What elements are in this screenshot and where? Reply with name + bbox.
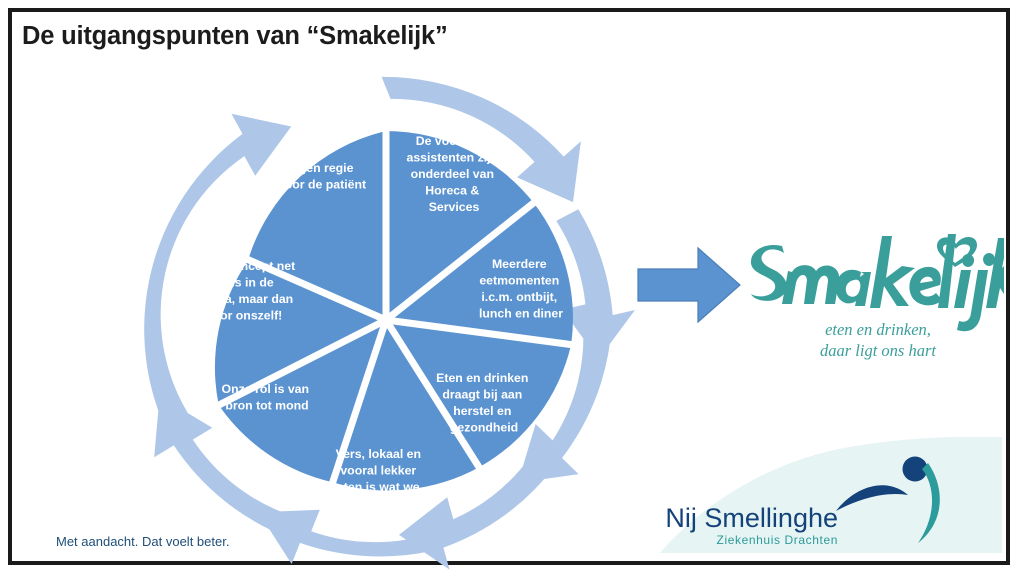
footer-tagline: Met aandacht. Dat voelt beter. [56, 534, 229, 549]
hospital-logo-area: Nij Smellinghe Ziekenhuis Drachten [660, 437, 1002, 553]
page-title: De uitgangspunten van “Smakelijk” [22, 22, 448, 51]
tagline-line-2: daar ligt ons hart [820, 341, 936, 360]
slide: De uitgangspunten van “Smakelijk” [0, 0, 1018, 573]
principles-wheel: De voedings assistenten zijn onderdeel v… [136, 70, 636, 570]
right-arrow-icon [638, 248, 740, 322]
tagline-line-1: eten en drinken, [825, 320, 931, 339]
hospital-name: Nij Smellinghe [665, 503, 838, 533]
smakelijk-wordmark [751, 234, 1004, 331]
flow-arrow [636, 243, 742, 327]
hospital-subtitle: Ziekenhuis Drachten [717, 533, 838, 547]
smakelijk-logo: eten en drinken, daar ligt ons hart [742, 222, 1004, 364]
smakelijk-tagline: eten en drinken, daar ligt ons hart [820, 320, 936, 360]
